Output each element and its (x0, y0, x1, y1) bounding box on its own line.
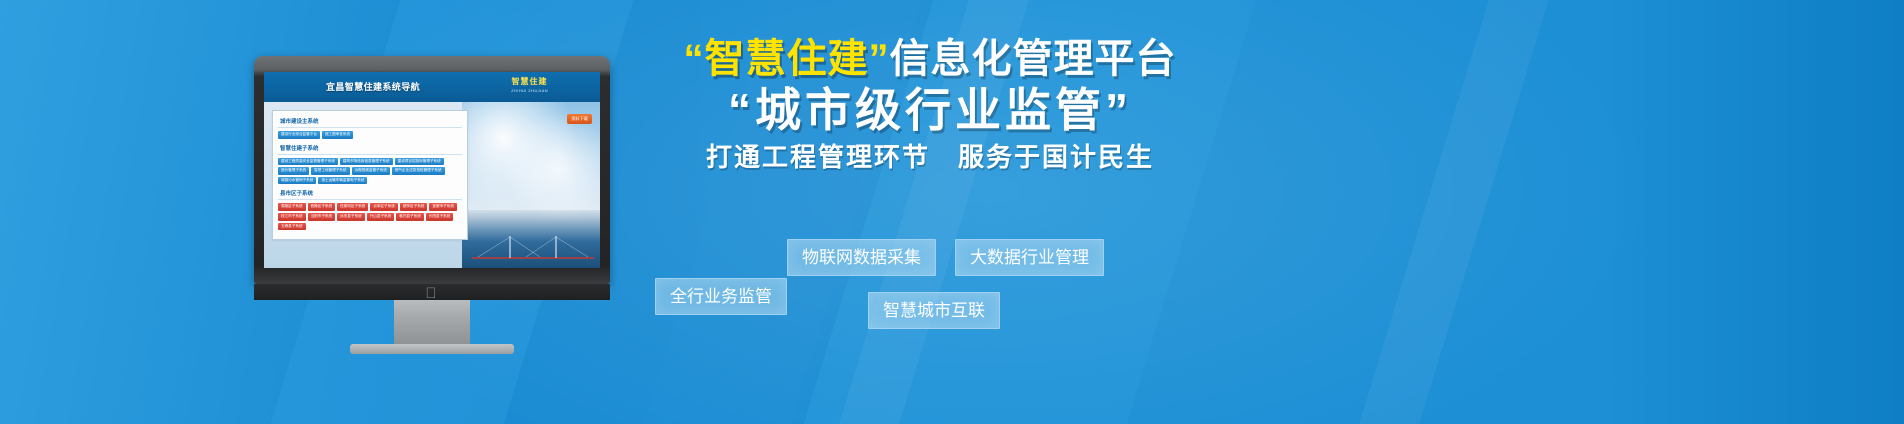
quote-close: ” (869, 37, 890, 81)
quote-open: “ (684, 37, 705, 81)
nav-button[interactable]: 枝江市子系统 (278, 213, 306, 221)
tag-industry-supervision[interactable]: 全行业务监管 (655, 278, 787, 315)
nav-button[interactable]: 点军区子系统 (370, 203, 398, 211)
dashboard-logo-english: ZHIHUI ZHUJIAN (511, 88, 548, 93)
nav-button[interactable]: 建筑市场信用信息管理子系统 (340, 158, 393, 166)
section-title-district: 县市区子系统 (278, 187, 462, 200)
nav-button[interactable]: 夷陵区子系统 (278, 203, 306, 211)
nav-button[interactable]: 建设工程质量安全监督管理子系统 (278, 158, 338, 166)
dashboard-panel: 城市建设主系统 建设行业综合监管平台 施工图审查系统 智慧住建子系统 建设工程质… (272, 110, 468, 240)
tag-iot-data-collection[interactable]: 物联网数据采集 (787, 239, 936, 276)
background-edge-right (1604, 0, 1904, 424)
headline-highlight: 智慧住建 (705, 37, 869, 81)
headline-line-1-rest: 信息化管理平台 (890, 37, 1177, 81)
bridge-illustration (470, 234, 596, 260)
dashboard-body: 资料下载 城市建设主系统 建设行业综合监管平台 施工图审查系统 智慧住建子系统 … (264, 102, 600, 268)
monitor-bezel: 宜昌智慧住建系统导航 智慧住建 ZHIHUI ZHUJIAN 资 (254, 56, 610, 284)
section-title-city: 城市建设主系统 (278, 115, 462, 128)
nav-button[interactable]: 伍家岗区子系统 (337, 203, 368, 211)
nav-button[interactable]: 造价管理子系统 (278, 167, 309, 175)
nav-button[interactable]: 建设行业综合监管平台 (278, 131, 320, 139)
imac-monitor-mockup: 宜昌智慧住建系统导航 智慧住建 ZHIHUI ZHUJIAN 资 (254, 56, 610, 304)
section-buttons-smart: 建设工程质量安全监督管理子系统 建筑市场信用信息管理子系统 建设项目招投标管理子… (278, 158, 462, 185)
background-streak-2 (1321, 0, 1580, 424)
nav-button[interactable]: 长阳县子系统 (426, 213, 454, 221)
download-badge[interactable]: 资料下载 (567, 114, 592, 124)
dashboard-logo-chinese: 智慧住建 (511, 76, 548, 87)
nav-button[interactable]: 兴山县子系统 (367, 213, 395, 221)
nav-button[interactable]: 智慧工地管理子系统 (311, 167, 349, 175)
nav-button[interactable]: 当阳市子系统 (308, 213, 336, 221)
tag-bigdata-management[interactable]: 大数据行业管理 (955, 239, 1104, 276)
nav-button[interactable]: 宜都市子系统 (429, 203, 457, 211)
nav-button[interactable]: 城镇污水管网子系统 (278, 177, 316, 185)
headline-block: “智慧住建”信息化管理平台 “城市级行业监管” 打通工程管理环节 服务于国计民生 (620, 38, 1240, 173)
dashboard-logo: 智慧住建 ZHIHUI ZHUJIAN (511, 76, 548, 93)
nav-button[interactable]: 西陵区子系统 (308, 203, 336, 211)
nav-button[interactable]: 燃气企业应急抢险管理子系统 (392, 167, 445, 175)
nav-button[interactable]: 渣土运输车辆监管电子系统 (318, 177, 367, 185)
headline-line-2: “城市级行业监管” (620, 85, 1240, 137)
tag-smart-city-connect[interactable]: 智慧城市互联 (868, 292, 1000, 329)
headline-line-3: 打通工程管理环节 服务于国计民生 (620, 143, 1240, 173)
nav-button[interactable]: 施工图审查系统 (322, 131, 353, 139)
nav-button[interactable]: 猇亭区子系统 (400, 203, 428, 211)
nav-button[interactable]: 秭归县子系统 (396, 213, 424, 221)
section-buttons-city: 建设行业综合监管平台 施工图审查系统 (278, 131, 462, 139)
promo-banner: 宜昌智慧住建系统导航 智慧住建 ZHIHUI ZHUJIAN 资 (0, 0, 1904, 424)
dashboard-title: 宜昌智慧住建系统导航 (326, 80, 420, 93)
monitor-stand-base (350, 344, 514, 354)
dashboard-header: 宜昌智慧住建系统导航 智慧住建 ZHIHUI ZHUJIAN (264, 72, 600, 102)
headline-line-1: “智慧住建”信息化管理平台 (620, 38, 1240, 81)
nav-button[interactable]: 远程视频监管子系统 (352, 167, 390, 175)
section-title-smart: 智慧住建子系统 (278, 142, 462, 155)
monitor-stand-neck (394, 300, 470, 346)
section-buttons-district: 夷陵区子系统 西陵区子系统 伍家岗区子系统 点军区子系统 猇亭区子系统 宜都市子… (278, 203, 462, 230)
nav-button[interactable]: 建设项目招投标管理子系统 (395, 158, 444, 166)
apple-logo-icon:  (424, 286, 438, 301)
nav-button[interactable]: 远安县子系统 (337, 213, 365, 221)
nav-button[interactable]: 五峰县子系统 (278, 223, 306, 231)
monitor-screen: 宜昌智慧住建系统导航 智慧住建 ZHIHUI ZHUJIAN 资 (264, 72, 600, 268)
